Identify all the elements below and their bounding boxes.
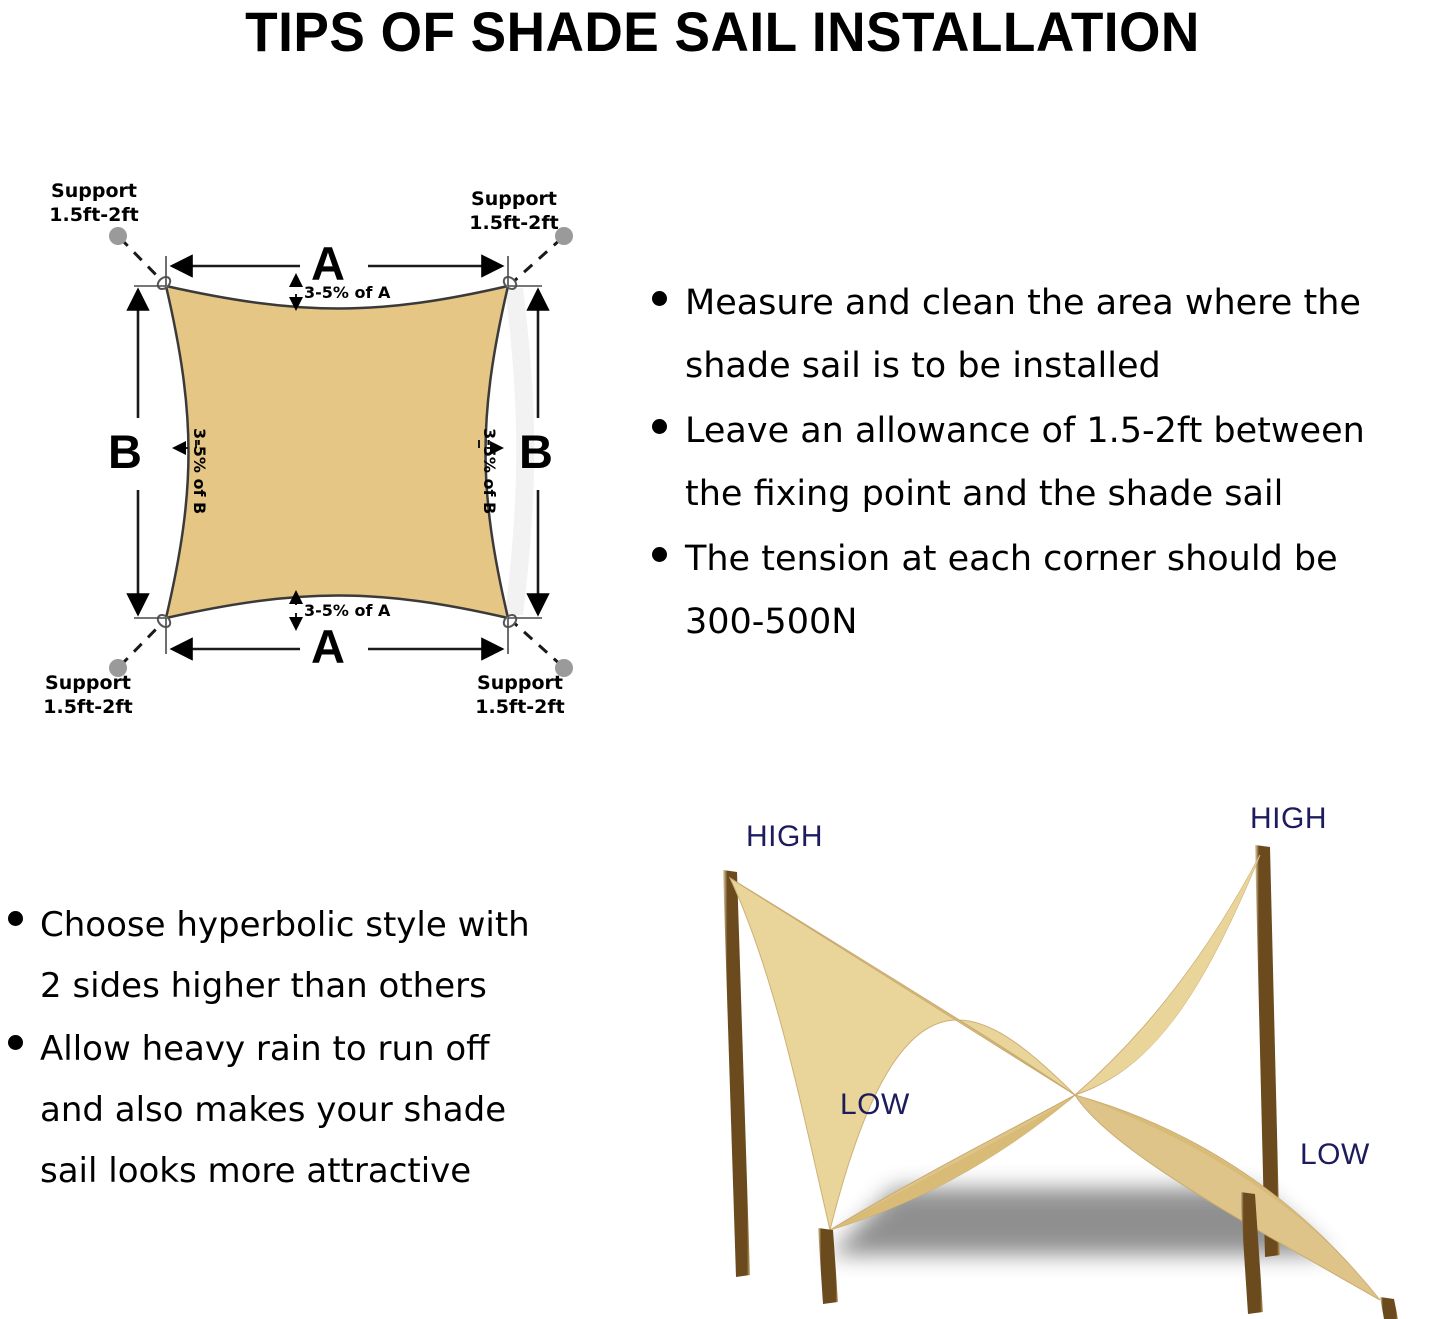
bullet-text: Choose hyperbolic style with 2 sides hig… [40, 895, 628, 1017]
post-low-left [818, 1228, 838, 1304]
bullet-dot-icon [8, 911, 23, 926]
bullet-line: and also makes your shade [40, 1080, 628, 1141]
bullet-dot-icon [652, 419, 667, 434]
bullet-line: Leave an allowance of 1.5-2ft between [685, 400, 1445, 463]
support-label-bottom-left: Support 1.5ft-2ft [8, 672, 168, 720]
page-title: TIPS OF SHADE SAIL INSTALLATION [36, 0, 1409, 62]
square-sail-diagram: A A B B 3-5% of A 3-5% of A 3-5% of B 3-… [0, 160, 640, 740]
sail-surface-upper [730, 878, 1075, 1230]
bullet-list-lower-left: Choose hyperbolic style with 2 sides hig… [8, 895, 628, 1204]
bullet-dot-icon [8, 1035, 23, 1050]
bullet-dot-icon [652, 547, 667, 562]
bullet-text: Allow heavy rain to run off and also mak… [40, 1019, 628, 1202]
support-label-line1: Support [434, 188, 594, 212]
list-item: Leave an allowance of 1.5-2ft between th… [652, 400, 1445, 526]
bullet-line: 300-500N [685, 591, 1445, 654]
support-label-line1: Support [8, 672, 168, 696]
sail-surface-right-top [1078, 855, 1260, 1093]
support-label-line2: 1.5ft-2ft [440, 696, 600, 720]
dimension-label-top-a: A [311, 240, 345, 287]
support-label-line1: Support [440, 672, 600, 696]
bullet-text: Measure and clean the area where the sha… [685, 272, 1445, 398]
support-label-top-left: Support 1.5ft-2ft [14, 180, 174, 228]
bullet-line: shade sail is to be installed [685, 335, 1445, 398]
label-low-right: LOW [1300, 1140, 1370, 1170]
support-label-line2: 1.5ft-2ft [434, 212, 594, 236]
bullet-line: the fixing point and the shade sail [685, 463, 1445, 526]
slack-label-right: 3-5% of B [481, 428, 497, 514]
label-high-left: HIGH [746, 822, 823, 852]
bullet-line: The tension at each corner should be [685, 528, 1445, 591]
bullet-line: sail looks more attractive [40, 1141, 628, 1202]
slack-label-top: 3-5% of A [304, 285, 390, 301]
bullet-line: Choose hyperbolic style with [40, 895, 628, 956]
dimension-label-left-b: B [108, 428, 142, 475]
bullet-dot-icon [652, 291, 667, 306]
dimension-label-right-b: B [519, 428, 553, 475]
support-label-line2: 1.5ft-2ft [8, 696, 168, 720]
bullet-line: Allow heavy rain to run off [40, 1019, 628, 1080]
support-label-line1: Support [14, 180, 174, 204]
hyperbolic-sail-diagram: HIGH HIGH LOW LOW [680, 800, 1445, 1319]
support-label-bottom-right: Support 1.5ft-2ft [440, 672, 600, 720]
label-low-left: LOW [840, 1090, 910, 1120]
dimension-label-bottom-a: A [311, 623, 345, 670]
bullet-list-right: Measure and clean the area where the sha… [652, 272, 1445, 656]
bullet-line: 2 sides higher than others [40, 956, 628, 1017]
hyperbolic-sail-svg [680, 800, 1445, 1319]
list-item: Choose hyperbolic style with 2 sides hig… [8, 895, 628, 1017]
sail-shape [166, 286, 508, 618]
list-item: Allow heavy rain to run off and also mak… [8, 1019, 628, 1202]
support-label-line2: 1.5ft-2ft [14, 204, 174, 228]
post-low-right [1380, 1297, 1398, 1319]
post-high-left [723, 870, 750, 1277]
list-item: The tension at each corner should be 300… [652, 528, 1445, 654]
list-item: Measure and clean the area where the sha… [652, 272, 1445, 398]
bullet-text: The tension at each corner should be 300… [685, 528, 1445, 654]
slack-label-bottom: 3-5% of A [304, 603, 390, 619]
bullet-text: Leave an allowance of 1.5-2ft between th… [685, 400, 1445, 526]
bullet-line: Measure and clean the area where the [685, 272, 1445, 335]
support-label-top-right: Support 1.5ft-2ft [434, 188, 594, 236]
slack-label-left: 3-5% of B [191, 428, 207, 514]
label-high-right: HIGH [1250, 804, 1327, 834]
